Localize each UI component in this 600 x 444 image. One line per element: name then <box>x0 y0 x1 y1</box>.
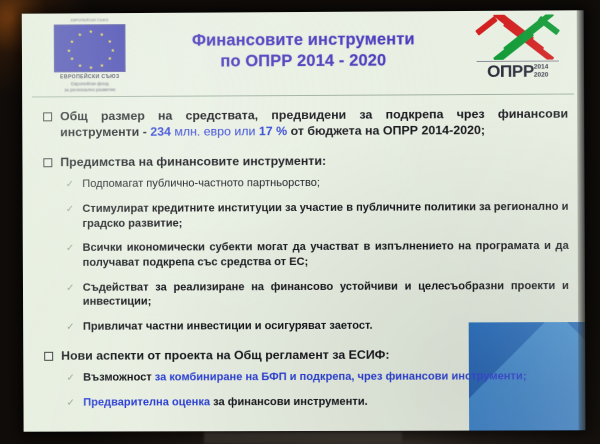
checklist-text: Всички икономически субекти могат да уча… <box>83 239 569 270</box>
screen-right-edge <box>577 10 586 430</box>
checklist-item: ✓Привличат частни инвестиции и осигурява… <box>44 318 569 335</box>
eu-logo-top-text: ЕВРОПЕЙСКИ СЪЮЗ <box>34 17 146 24</box>
eu-logo-caption-line3: за регионално развитие <box>34 87 146 94</box>
text-segment: Съдействат за реализиране на финансово у… <box>83 280 569 308</box>
eu-flag-icon: ★ ★ ★ ★ ★ ★ ★ ★ ★ ★ ★ ★ <box>54 24 126 72</box>
check-icon: ✓ <box>65 371 76 386</box>
bullet-text: Предимства на финансовите инструменти: <box>60 151 568 170</box>
check-icon: ✓ <box>65 280 76 295</box>
checklist-item: ✓Стимулират кредитните институции за уча… <box>44 200 569 232</box>
check-icon: ✓ <box>65 241 76 256</box>
bullet-item: Предимства на финансовите инструменти: <box>43 151 568 170</box>
checklist-text: Предварителна оценка за финансови инстру… <box>83 394 569 410</box>
text-segment: Нови аспекти от проекта на Общ регламент… <box>61 348 389 363</box>
checklist-text: Стимулират кредитните институции за учас… <box>82 200 568 231</box>
bullet-text: Общ размер на средствата, предвидени за … <box>60 106 568 141</box>
text-segment: Привличат частни инвестиции и осигуряват… <box>83 320 373 333</box>
text-segment: 17 % <box>259 124 287 138</box>
square-bullet-icon <box>44 352 53 361</box>
title-line-1: Финансовите инструменти <box>153 29 453 52</box>
oprr-year-top: 2014 <box>534 64 549 72</box>
oprr-weave-icon <box>474 14 561 60</box>
oprr-wordmark: ОПРР <box>487 63 534 81</box>
square-bullet-icon <box>43 112 52 121</box>
checklist-item: ✓Предварителна оценка за финансови инстр… <box>44 394 569 410</box>
check-icon: ✓ <box>65 396 76 411</box>
text-segment: за <box>152 372 170 384</box>
check-icon: ✓ <box>64 177 75 192</box>
checklist-text: Възможност за комбиниране на БФП и подкр… <box>83 369 569 385</box>
text-segment: Възможност <box>83 372 152 384</box>
text-segment: Стимулират кредитните институции за учас… <box>82 201 568 230</box>
text-segment: за финансови инструменти. <box>210 396 368 408</box>
bullet-text: Нови аспекти от проекта на Общ регламент… <box>61 346 569 364</box>
text-segment: комбиниране на БФП и подкрепа, чрез фина… <box>169 371 526 384</box>
text-segment: Подпомагат публично-частното партньорств… <box>82 177 320 190</box>
slide-header: ЕВРОПЕЙСКИ СЪЮЗ ★ ★ ★ ★ ★ ★ ★ ★ ★ ★ ★ ★ … <box>22 10 584 97</box>
projector-photo: ЕВРОПЕЙСКИ СЪЮЗ ★ ★ ★ ★ ★ ★ ★ ★ ★ ★ ★ ★ … <box>0 0 600 444</box>
check-icon: ✓ <box>64 202 75 217</box>
desk-edge <box>204 432 402 444</box>
text-segment: млн. евро или <box>171 125 259 139</box>
text-segment: от бюджета на ОПРР 2014-2020; <box>287 123 485 138</box>
presentation-slide: ЕВРОПЕЙСКИ СЪЮЗ ★ ★ ★ ★ ★ ★ ★ ★ ★ ★ ★ ★ … <box>22 10 586 431</box>
checklist-item: ✓Подпомагат публично-частното партньорст… <box>43 175 568 192</box>
checklist-item: ✓Съдействат за реализиране на финансово … <box>44 279 569 310</box>
text-segment: 234 <box>150 125 171 139</box>
checklist-text: Подпомагат публично-частното партньорств… <box>82 175 568 192</box>
slide-body: Общ размер на средствата, предвидени за … <box>22 94 585 410</box>
bullet-item: Общ размер на средствата, предвидени за … <box>43 106 568 142</box>
text-segment: Предимства на финансовите инструменти: <box>60 154 326 169</box>
page-title: Финансовите инструменти по ОПРР 2014 - 2… <box>153 29 453 73</box>
title-line-2: по ОПРР 2014 - 2020 <box>153 50 453 73</box>
checklist-text: Съдействат за реализиране на финансово у… <box>83 279 569 310</box>
checklist-text: Привличат частни инвестиции и осигуряват… <box>83 318 569 334</box>
square-bullet-icon <box>43 158 52 167</box>
oprr-year-bottom: 2020 <box>534 71 549 79</box>
bullet-item: Нови аспекти от проекта на Общ регламент… <box>44 346 569 364</box>
check-icon: ✓ <box>65 320 76 335</box>
text-segment: Предварителна оценка <box>83 396 210 408</box>
checklist-item: ✓Възможност за комбиниране на БФП и подк… <box>44 369 569 386</box>
text-segment: Всички икономически субекти могат да уча… <box>83 240 569 269</box>
oprr-logo: ОПРР 2014 2020 <box>465 12 570 81</box>
eu-logo: ЕВРОПЕЙСКИ СЪЮЗ ★ ★ ★ ★ ★ ★ ★ ★ ★ ★ ★ ★ … <box>34 17 146 94</box>
checklist-item: ✓Всички икономически субекти могат да уч… <box>44 239 569 270</box>
